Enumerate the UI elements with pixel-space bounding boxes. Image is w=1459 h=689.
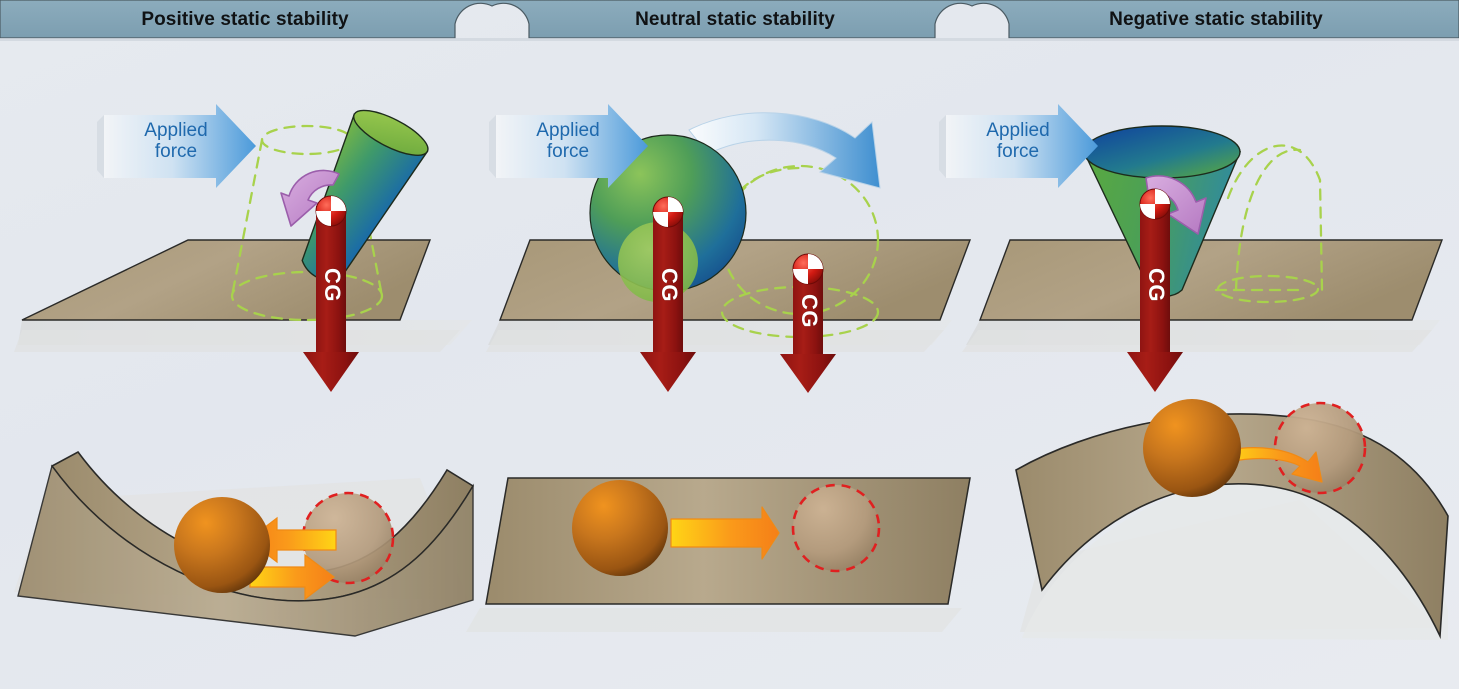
cg-label-neutral-2: CG bbox=[796, 294, 822, 328]
cg-label-positive: CG bbox=[319, 268, 345, 302]
figure-canvas: Positive static stability Neutral static… bbox=[0, 0, 1459, 689]
applied-force-label-neutral: Applied force bbox=[508, 120, 628, 162]
applied-force-arrows bbox=[0, 0, 1459, 689]
cg-label-negative: CG bbox=[1143, 268, 1169, 302]
applied-force-label-negative: Applied force bbox=[958, 120, 1078, 162]
cg-label-neutral-1: CG bbox=[656, 268, 682, 302]
applied-force-label-positive: Applied force bbox=[116, 120, 236, 162]
